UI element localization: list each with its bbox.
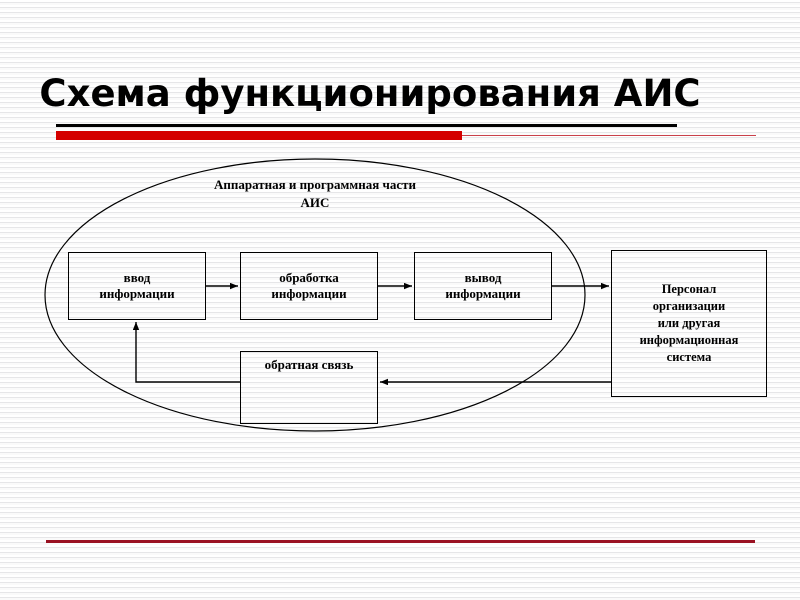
slide-canvas: Схема функционирования АИС [0, 0, 800, 600]
node-personnel[interactable]: Персонал организации или другая информац… [611, 250, 767, 397]
system-boundary-label: Аппаратная и программная части АИС [120, 176, 510, 212]
node-feedback-label: обратная связь [241, 352, 377, 373]
node-process-label: обработка информации [241, 270, 377, 302]
footer-rule [46, 540, 755, 543]
node-process[interactable]: обработка информации [240, 252, 378, 320]
title-underline [56, 124, 677, 127]
node-input[interactable]: ввод информации [68, 252, 206, 320]
node-input-label: ввод информации [69, 270, 205, 302]
edge-feedback-to-input [136, 322, 240, 382]
title-accent-bar [56, 131, 462, 140]
node-personnel-label: Персонал организации или другая информац… [612, 281, 766, 366]
title-block: Схема функционирования АИС [0, 72, 800, 132]
functioning-scheme-diagram: Аппаратная и программная части АИС ввод … [0, 150, 800, 450]
node-output[interactable]: вывод информации [414, 252, 552, 320]
page-title: Схема функционирования АИС [0, 72, 740, 115]
node-feedback[interactable]: обратная связь [240, 351, 378, 424]
node-output-label: вывод информации [415, 270, 551, 302]
